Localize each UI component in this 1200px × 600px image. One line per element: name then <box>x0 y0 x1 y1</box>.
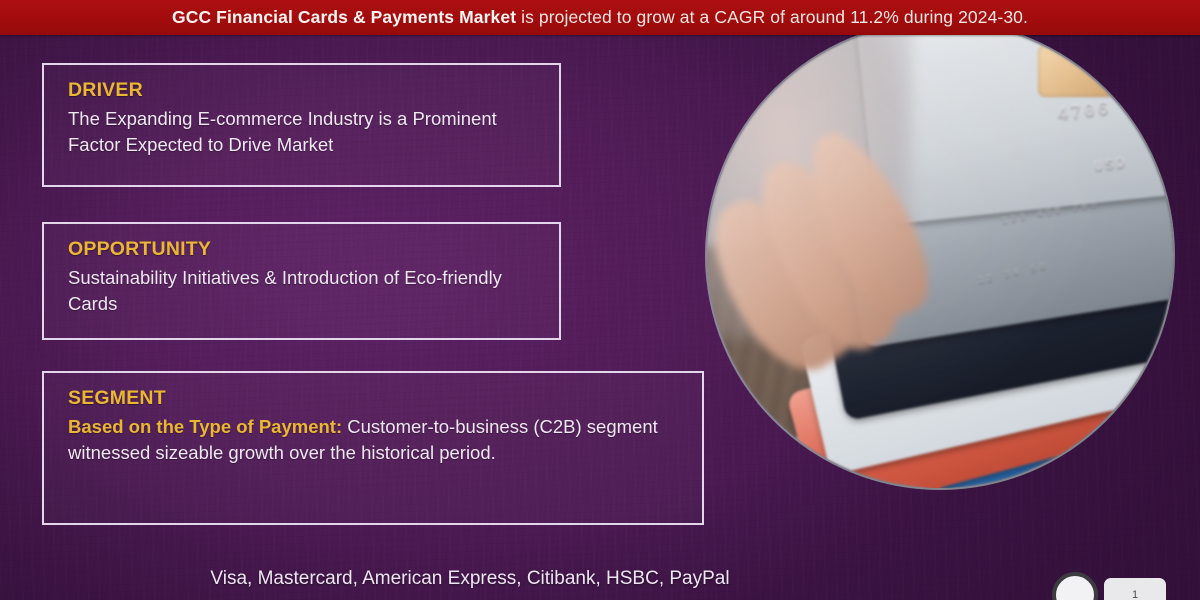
segment-title: SEGMENT <box>68 387 680 410</box>
photo-soften-overlay <box>707 22 1173 488</box>
infographic-canvas: 4706 USD 123 456 789 12 34 56 GCC Financ… <box>0 0 1200 600</box>
chat-bubble-icon[interactable] <box>1052 572 1098 600</box>
driver-box-inner: DRIVER The Expanding E-commerce Industry… <box>44 65 559 159</box>
opportunity-box: OPPORTUNITY Sustainability Initiatives &… <box>42 222 561 340</box>
segment-body: Based on the Type of Payment: Customer-t… <box>68 414 680 467</box>
header-title: GCC Financial Cards & Payments Market is… <box>172 7 1028 28</box>
segment-body-lead: Based on the Type of Payment: <box>68 416 342 437</box>
header-title-highlight: GCC Financial Cards & Payments Market <box>172 7 516 27</box>
photo-inner: 4706 USD 123 456 789 12 34 56 <box>707 22 1173 488</box>
chat-widget-label[interactable]: 1 <box>1104 578 1166 600</box>
driver-box: DRIVER The Expanding E-commerce Industry… <box>42 63 561 187</box>
header-title-rest: is projected to grow at a CAGR of around… <box>516 7 1028 27</box>
driver-title: DRIVER <box>68 79 537 102</box>
segment-box-inner: SEGMENT Based on the Type of Payment: Cu… <box>44 373 702 467</box>
header-banner: GCC Financial Cards & Payments Market is… <box>0 0 1200 35</box>
credit-cards-photo: 4706 USD 123 456 789 12 34 56 <box>707 22 1173 488</box>
opportunity-title: OPPORTUNITY <box>68 238 537 261</box>
opportunity-body: Sustainability Initiatives & Introductio… <box>68 265 537 318</box>
brand-list: Visa, Mastercard, American Express, Citi… <box>0 568 940 590</box>
segment-box: SEGMENT Based on the Type of Payment: Cu… <box>42 371 704 525</box>
driver-body: The Expanding E-commerce Industry is a P… <box>68 106 537 159</box>
opportunity-box-inner: OPPORTUNITY Sustainability Initiatives &… <box>44 224 559 318</box>
chat-support-widget[interactable]: 1 <box>1052 572 1166 600</box>
